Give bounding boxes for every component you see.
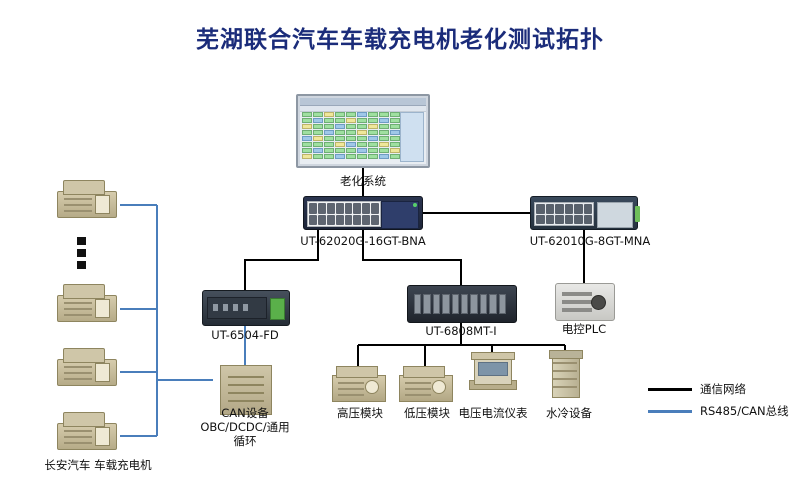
server-6808-label: UT-6808MT-I (406, 324, 516, 338)
hv-module[interactable] (332, 366, 384, 400)
monitor-grid (302, 112, 400, 162)
switch-8gt[interactable] (530, 196, 638, 230)
voltage-current-meter[interactable] (469, 352, 515, 390)
cooling-tower-icon (547, 350, 583, 398)
can-device-label-2: OBC/DCDC/通用 (185, 420, 305, 434)
legend-line-network (648, 388, 692, 391)
legend-line-bus (648, 410, 692, 413)
charger-3[interactable] (57, 348, 115, 384)
legend-label-network: 通信网络 (700, 381, 746, 397)
lv-module[interactable] (399, 366, 451, 400)
legend-item-network: 通信网络 (648, 378, 798, 400)
meter-label: 电压电流仪表 (452, 406, 534, 420)
plc-icon (555, 283, 615, 321)
gateway-6504[interactable] (202, 290, 290, 326)
legend: 通信网络 RS485/CAN总线 (648, 378, 798, 422)
hv-module-label: 高压模块 (325, 406, 395, 420)
chargers-label: 长安汽车 车载充电机 (8, 458, 188, 472)
repeat-indicator-dots (77, 237, 86, 275)
water-cooling-device[interactable] (547, 350, 583, 398)
legend-item-bus: RS485/CAN总线 (648, 400, 798, 422)
monitor-icon (296, 94, 430, 168)
can-device-label-3: 循环 (185, 434, 305, 448)
charger-icon (57, 284, 115, 320)
charger-icon (57, 180, 115, 216)
charger-4[interactable] (57, 412, 115, 448)
module-icon (332, 366, 384, 400)
gateway-6504-label: UT-6504-FD (190, 328, 300, 342)
legend-label-bus: RS485/CAN总线 (700, 403, 789, 419)
charger-icon (57, 412, 115, 448)
server-icon (407, 285, 517, 323)
charger-1[interactable] (57, 180, 115, 216)
aging-system-label: 老化系统 (303, 174, 423, 188)
switch-16gt-label: UT-62020G-16GT-BNA (283, 234, 443, 248)
plc-device[interactable] (555, 283, 615, 321)
network-switch-icon (530, 196, 638, 230)
charger-icon (57, 348, 115, 384)
instrument-icon (469, 352, 515, 390)
plc-label: 电控PLC (549, 322, 619, 336)
gateway-icon (202, 290, 290, 326)
network-switch-icon (303, 196, 423, 230)
water-cooling-label: 水冷设备 (534, 406, 604, 420)
charger-2[interactable] (57, 284, 115, 320)
aging-system-monitor[interactable] (296, 94, 430, 168)
monitor-side-panel (400, 112, 424, 162)
topology-diagram: 芜湖联合汽车车载充电机老化测试拓扑 (0, 0, 800, 491)
switch-16gt[interactable] (303, 196, 423, 230)
can-device-label-1: CAN设备 (185, 406, 305, 420)
switch-8gt-label: UT-62010G-8GT-MNA (510, 234, 670, 248)
server-6808[interactable] (407, 285, 517, 323)
module-icon (399, 366, 451, 400)
